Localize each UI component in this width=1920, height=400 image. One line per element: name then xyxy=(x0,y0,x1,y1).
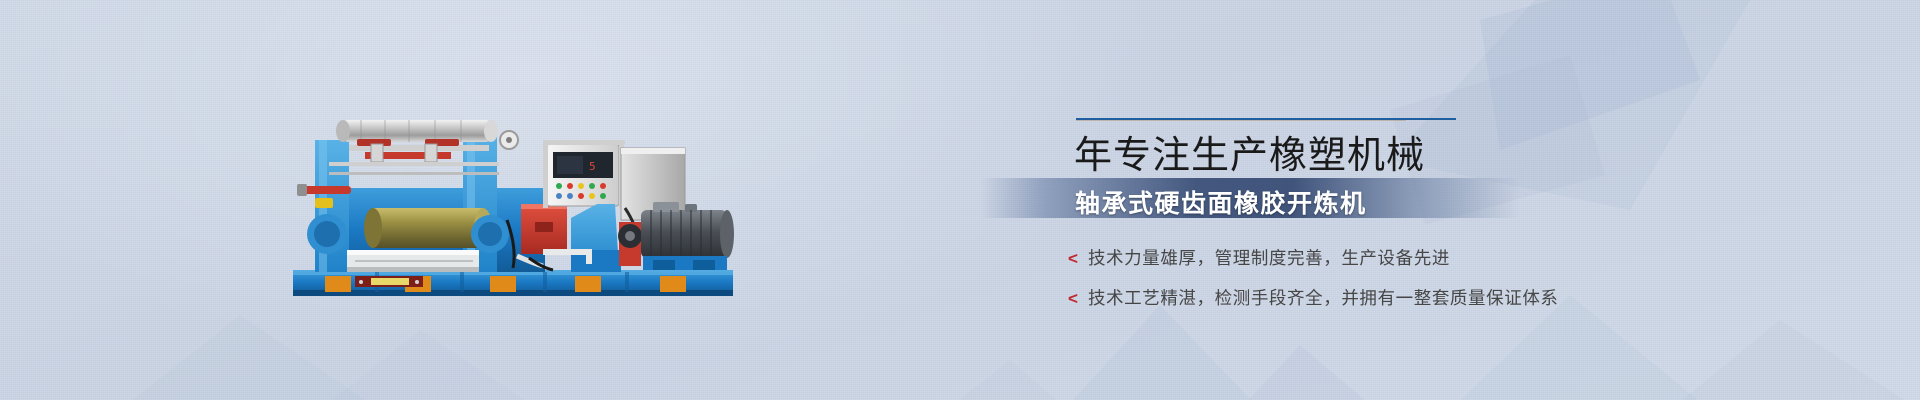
chevron-left-icon: < xyxy=(1068,250,1078,267)
divider-line-tan xyxy=(1076,120,1406,121)
hero-copy-block: 年专注生产橡塑机械 xyxy=(1060,100,1620,177)
headline-divider xyxy=(1076,118,1456,122)
bullet-text: 技术工艺精湛，检测手段齐全，并拥有一整套质量保证体系 xyxy=(1088,285,1559,310)
page-title: 年专注生产橡塑机械 xyxy=(1074,134,1620,177)
feature-bullet-list: < 技术力量雄厚，管理制度完善，生产设备先进 < 技术工艺精湛，检测手段齐全，并… xyxy=(1068,245,1559,325)
subtitle-text: 轴承式硬齿面橡胶开炼机 xyxy=(1075,184,1367,220)
bullet-text: 技术力量雄厚，管理制度完善，生产设备先进 xyxy=(1088,245,1450,270)
list-item: < 技术工艺精湛，检测手段齐全，并拥有一整套质量保证体系 xyxy=(1068,285,1559,310)
chevron-left-icon: < xyxy=(1068,290,1078,307)
svg-text:5: 5 xyxy=(589,160,596,173)
hero-banner: 5 xyxy=(0,0,1920,400)
product-photo-rubber-mixing-mill: 5 xyxy=(285,100,755,305)
list-item: < 技术力量雄厚，管理制度完善，生产设备先进 xyxy=(1068,245,1559,270)
